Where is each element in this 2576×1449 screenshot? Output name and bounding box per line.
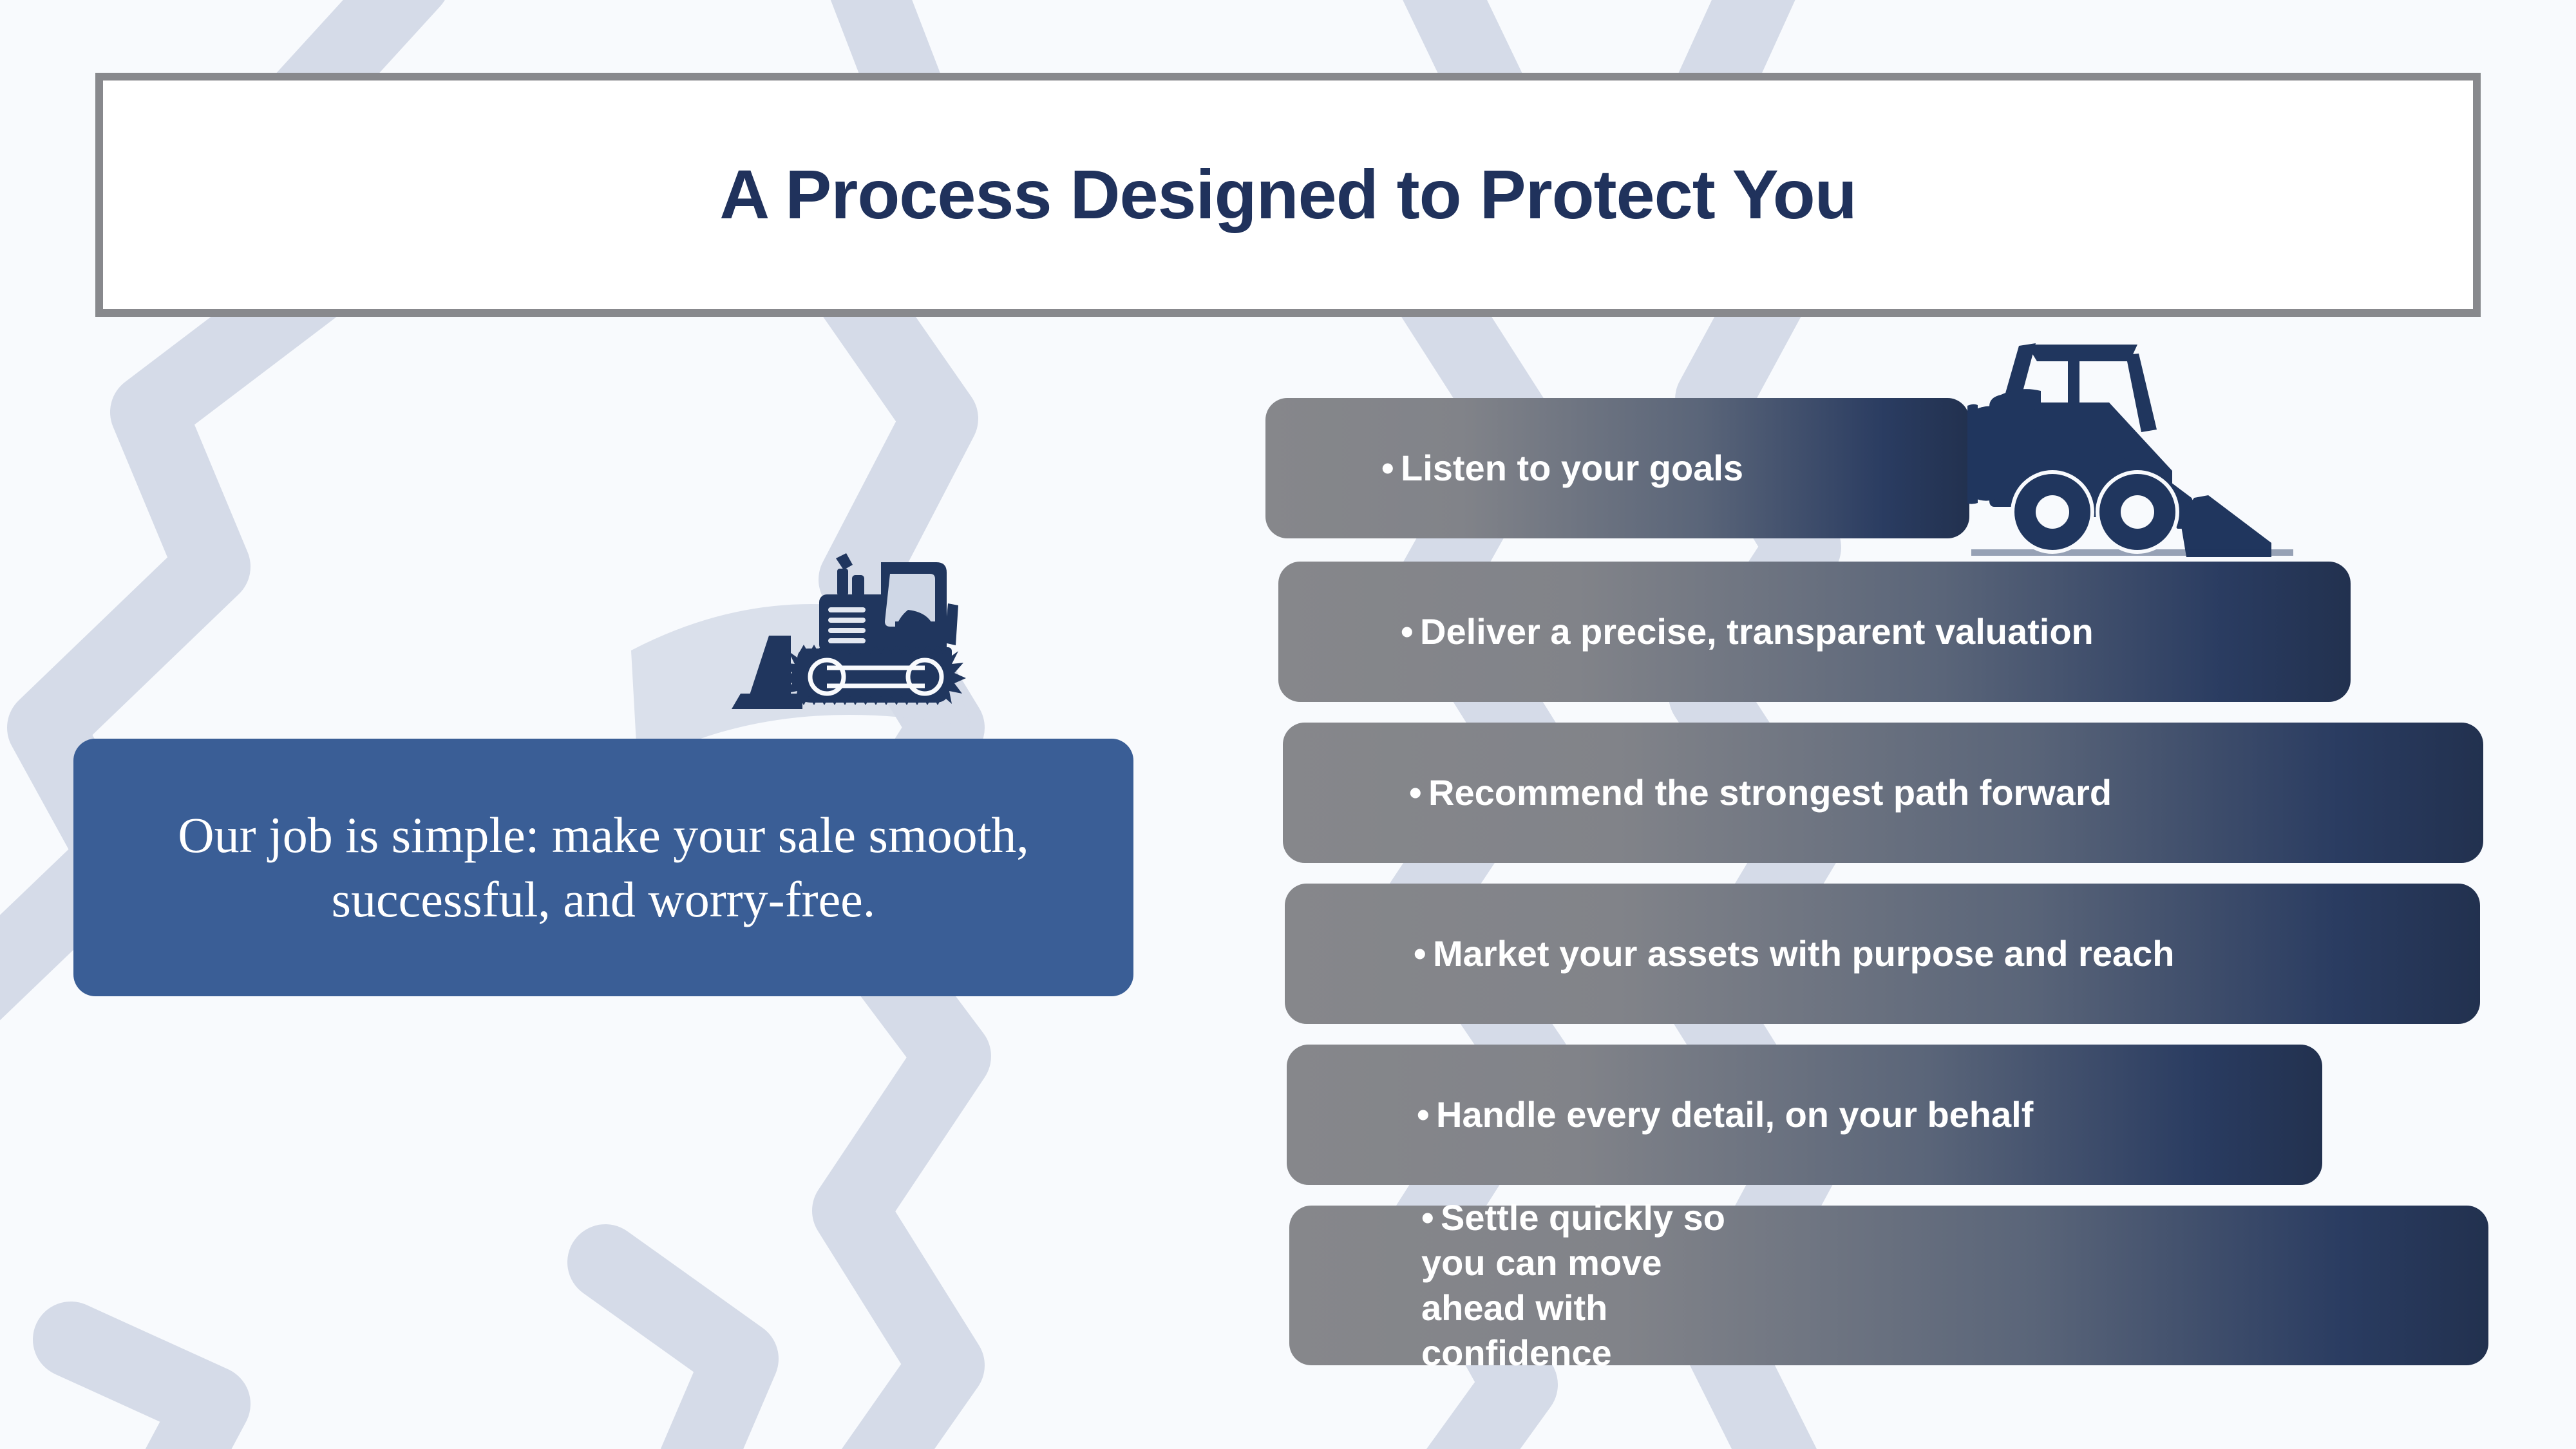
- bullet-icon: •: [1409, 770, 1428, 815]
- slide-canvas: A Process Designed to Protect You: [0, 0, 2576, 1449]
- process-bar-label: •Market your assets with purpose and rea…: [1414, 931, 2480, 976]
- bullet-icon: •: [1421, 1195, 1441, 1240]
- process-bar-label: •Deliver a precise, transparent valuatio…: [1401, 609, 2351, 654]
- quote-text: Our job is simple: make your sale smooth…: [73, 803, 1133, 932]
- skid-steer-loader-icon: [1967, 325, 2296, 557]
- bullet-icon: •: [1381, 446, 1401, 491]
- bullet-icon: •: [1414, 931, 1433, 976]
- process-bar[interactable]: •Market your assets with purpose and rea…: [1285, 884, 2480, 1024]
- quote-card: Our job is simple: make your sale smooth…: [73, 739, 1133, 996]
- bullet-icon: •: [1401, 609, 1420, 654]
- process-bar[interactable]: •Deliver a precise, transparent valuatio…: [1278, 562, 2351, 702]
- bulldozer-icon: [721, 551, 1005, 724]
- page-title: A Process Designed to Protect You: [719, 156, 1856, 233]
- title-box: A Process Designed to Protect You: [95, 73, 2481, 317]
- bullet-icon: •: [1417, 1092, 1436, 1137]
- process-bar[interactable]: •Handle every detail, on your behalf: [1287, 1045, 2322, 1185]
- process-bar-label: •Handle every detail, on your behalf: [1417, 1092, 2322, 1137]
- process-bar[interactable]: •Settle quickly so you can move ahead wi…: [1289, 1206, 2488, 1365]
- process-bar-label: •Settle quickly so you can move ahead wi…: [1421, 1195, 1748, 1376]
- process-bar-label: •Recommend the strongest path forward: [1409, 770, 2483, 815]
- process-bar[interactable]: •Listen to your goals: [1265, 398, 1969, 538]
- process-bar[interactable]: •Recommend the strongest path forward: [1283, 723, 2483, 863]
- process-bar-label: •Listen to your goals: [1381, 446, 1969, 491]
